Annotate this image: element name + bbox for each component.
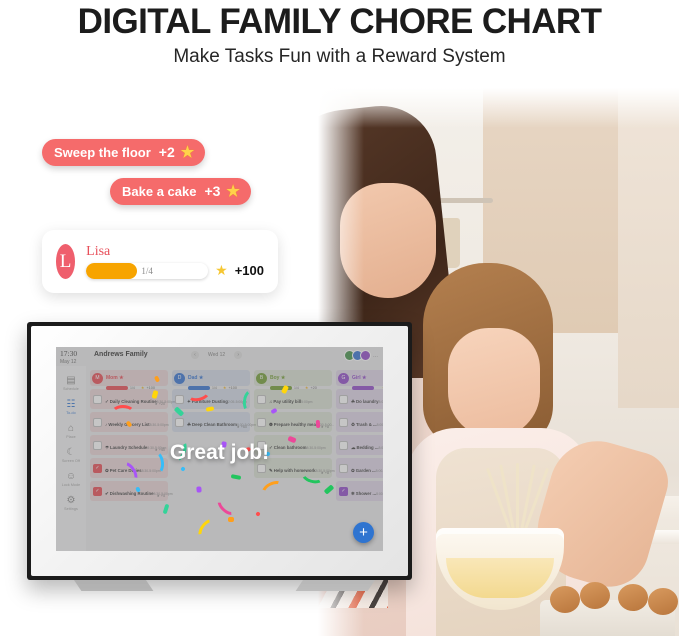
avatar: M [92,373,103,384]
member-header[interactable]: GGirl ★★ [336,370,383,386]
sidebar-item-to-do[interactable]: ☷To-do [57,399,85,415]
task-row[interactable]: ♪ Weekly Grocery List8:30-5:00pm [90,412,168,432]
sidebar-item-label: Lock Mode [62,483,80,487]
task-checkbox[interactable] [93,395,102,404]
home-icon: ⌂ [68,423,74,434]
music-icon: ★ [199,375,203,381]
member-name: Dad ★ [188,375,203,381]
date-nav-current: Wed 12 [208,352,225,358]
star-icon: ★ [362,375,366,381]
sidebar-item-place[interactable]: ⌂Place [57,423,85,439]
family-name: Andrews Family [94,351,148,358]
floating-task-pill[interactable]: Bake a cake +3 ★ [110,178,251,205]
task-time: 8:30-5:00pm [142,469,161,473]
task-row[interactable]: ✓❄ Shower ...8:00-5:00pm [336,481,383,501]
tablet-screen[interactable]: 17:30 May 12 Andrews Family ‹ Wed 12 › .… [56,347,383,551]
task-points: ★ +8 [321,471,329,475]
sidebar-item-label: Schedule [63,387,79,391]
task-name: ✿ Garden ... [351,468,376,473]
task-row[interactable]: ✦ Furniture Dusting2:05-5:00pm [172,389,250,409]
sidebar-item-label: To-do [66,411,76,415]
sidebar-item-label: Settings [64,507,78,511]
task-time: 8:00-5:00pm [376,469,383,473]
task-name: ♻ Trash & ... [351,422,377,427]
star-icon: ★ [181,145,194,160]
avatar: L [56,244,75,279]
sidebar-item-schedule[interactable]: ▤Schedule [57,375,85,391]
member-name: Mom ★ [106,375,124,381]
task-time: 8:00-5:00pm [377,423,383,427]
task-name: ☘ Deep Clean Bathroom [187,422,237,427]
avatar: G [338,373,349,384]
page-title: DIGITAL FAMILY CHORE CHART [0,0,679,42]
member-name: Girl ★ [352,375,367,381]
calendar-icon: ▤ [66,375,75,386]
member-header[interactable]: BBoy ★1/4★+20 [254,370,332,386]
task-name: ✦ Furniture Dusting [187,399,228,404]
checklist-icon: ☷ [67,399,76,410]
task-time: 5:00pm [301,400,312,404]
clock-date: May 12 [60,358,90,366]
task-checkbox[interactable] [339,395,348,404]
plus-icon: + [359,525,368,540]
avatar-group[interactable]: ... [347,350,378,361]
task-row[interactable]: ☘ Deep Clean Bathroom8:30-5:00pm★ +60 [172,412,250,432]
task-checkbox[interactable] [175,395,184,404]
task-points: ★ +20 [155,402,165,406]
lock-face-icon: ☺ [66,471,76,482]
task-name: ✓ Daily Cleaning Routine [105,399,157,404]
avatar: D [174,373,185,384]
poster-stage: DIGITAL FAMILY CHORE CHART Make Tasks Fu… [0,0,679,636]
task-time: 8:30-5:00pm [150,423,169,427]
task-name: ✔ Dishwashing Routine [105,491,153,496]
task-row[interactable]: ✓✔ Dishwashing Routine8:30-5:00pm★ +5 [90,481,168,501]
avatar[interactable] [360,350,371,361]
task-name: ❁ Prepare healthy meal [269,422,317,427]
task-name: ♫ Pay utility bill [269,399,301,404]
task-name: ✿ Pet Care Duties [105,468,142,473]
avatar-initial: L [60,251,72,273]
task-checkbox[interactable]: ✓ [339,487,348,496]
task-points: ★ +60 [237,425,247,429]
task-checkbox[interactable] [339,418,348,427]
task-name: ☘ Do laundry [351,399,379,404]
celebration-message: Great job! [56,441,383,465]
date-nav[interactable]: ‹ Wed 12 › [191,351,242,359]
task-row[interactable]: ♫ Pay utility bill5:00pm [254,389,332,409]
pill-label: Bake a cake [122,184,196,199]
task-checkbox[interactable] [93,418,102,427]
star-icon: ★ [215,262,228,279]
page-subtitle: Make Tasks Fun with a Reward System [0,44,679,70]
task-time: 8:00-5:00pm [379,400,384,404]
app-header: 17:30 May 12 Andrews Family ‹ Wed 12 › .… [56,347,383,366]
chevron-right-icon[interactable]: › [234,351,242,359]
task-row[interactable]: ☘ Do laundry8:00-5:00pm [336,389,383,409]
sidebar-item-lock-mode[interactable]: ☺Lock Mode [57,471,85,487]
chevron-left-icon[interactable]: ‹ [191,351,199,359]
clock-time: 17:30 [60,349,90,358]
task-name: ❄ Shower ... [351,491,376,496]
crown-icon: ★ [119,375,123,381]
member-name: Boy ★ [270,375,285,381]
clock: 17:30 May 12 [60,349,90,366]
member-name: Lisa [86,244,264,259]
task-checkbox[interactable]: ✓ [93,487,102,496]
task-points: ★ +8 [321,425,329,429]
points-value: +100 [235,263,264,278]
task-name: ♪ Weekly Grocery List [105,422,150,427]
star-icon: ★ [226,184,239,199]
more-avatars[interactable]: ... [373,353,378,359]
task-time: 2:05-5:00pm [228,400,247,404]
sidebar-item-settings[interactable]: ⚙Settings [57,495,85,511]
member-header[interactable]: MMom ★1/4★+100 [90,370,168,386]
task-points: ★ +5 [157,494,165,498]
floating-task-pill[interactable]: Sweep the floor +2 ★ [42,139,205,166]
sidebar-item-label: Place [66,435,76,439]
task-checkbox[interactable] [257,418,266,427]
soccer-icon: ★ [281,375,285,381]
task-checkbox[interactable] [257,395,266,404]
progress-bar: 1/4 [86,263,208,279]
pill-points: +3 [204,183,220,199]
task-row[interactable]: ✓ Daily Cleaning Routine8:30-5:00pm★ +20 [90,389,168,409]
add-task-button[interactable]: + [353,522,374,543]
member-header[interactable]: DDad ★1/4★+100 [172,370,250,386]
progress-label: 1/4 [86,263,208,279]
task-time: 8:00-5:00pm [376,492,383,496]
task-name: ✎ Help with homework [269,468,316,473]
tablet-device: 17:30 May 12 Andrews Family ‹ Wed 12 › .… [27,322,412,580]
pill-label: Sweep the floor [54,145,151,160]
member-progress-card[interactable]: L Lisa 1/4 ★ +100 [42,230,278,293]
task-row[interactable]: ♻ Trash & ...8:00-5:00pm [336,412,383,432]
gear-icon: ⚙ [67,495,76,506]
pill-points: +2 [159,144,175,160]
task-row[interactable]: ❁ Prepare healthy meal8:30-5:00...★ +8 [254,412,332,432]
task-checkbox[interactable] [175,418,184,427]
avatar: B [256,373,267,384]
